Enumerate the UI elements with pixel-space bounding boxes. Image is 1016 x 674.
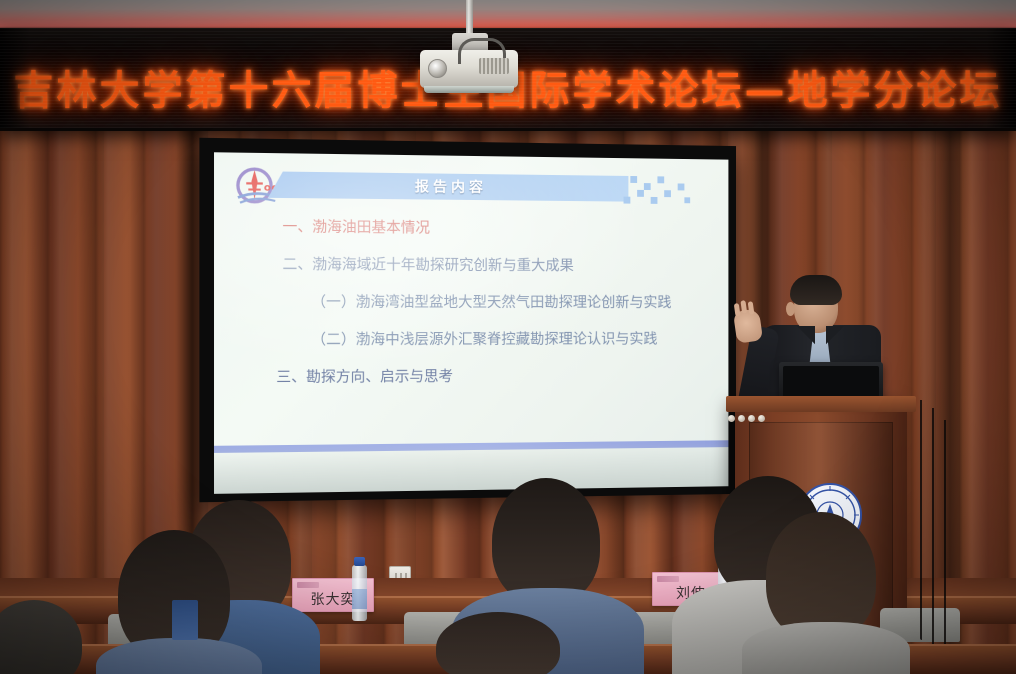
slide-line-4: （二）渤海中浅层源外汇聚脊控藏勘探理论认识与实践 [311,333,657,349]
slide-footer-band [214,440,728,453]
slide-line-1: 一、渤海油田基本情况 [282,220,430,237]
slide-pixel-decor [657,176,664,183]
ceiling-projector [420,50,518,88]
slide-line-5: 三、勘探方向、启示与思考 [276,370,453,386]
projection-screen-surface: ooc 报告内容 一、渤海油田基本情况 二、渤 [214,152,728,494]
lecture-hall-scene: 吉林大学第十六届博士生国际学术论坛—地学分论坛 [0,0,1016,674]
slide-line-2: 二、渤海海域近十年勘探研究创新与重大成果 [282,258,573,275]
audience-head [492,478,600,604]
projection-screen-frame: ooc 报告内容 一、渤海油田基本情况 二、渤 [199,138,736,503]
slide-pixel-decor [651,197,658,204]
wall-cable [920,400,922,640]
audience-head [436,612,560,674]
slide-pixel-decor [644,183,651,190]
banner-edge-shadow [0,28,30,131]
speaker-hair [790,275,842,305]
placard-logo [297,582,319,588]
slide-line-3: （一）渤海湾油型盆地大型天然气田勘探理论创新与实践 [311,296,671,312]
podium-control-buttons[interactable] [728,415,768,424]
audience-shoulders [742,622,910,674]
slide-title: 报告内容 [268,173,628,201]
projector-lens-icon [428,59,447,78]
bottle-cap [354,557,365,566]
slide-body: 一、渤海油田基本情况 二、渤海海域近十年勘探研究创新与重大成果 （一）渤海湾油型… [214,220,728,224]
bottle-label [352,589,367,609]
placard-logo [657,576,679,582]
audience-head [766,512,876,640]
wall-cable [932,408,934,658]
slide-pixel-decor [684,197,690,203]
slide-pixel-decor [664,190,671,197]
wall-cable [944,420,946,650]
hair-clip [172,600,198,640]
slide-pixel-decor [630,176,637,183]
slide-pixel-decor [624,197,631,204]
water-bottle [352,565,367,621]
projector-base [424,86,514,93]
projector-vent [479,58,509,74]
banner-edge-shadow [986,28,1016,131]
podium-top-surface [726,396,916,412]
presentation-slide: ooc 报告内容 一、渤海油田基本情况 二、渤 [214,152,728,494]
slide-pixel-decor [678,183,685,190]
slide-pixel-decor [637,190,644,197]
